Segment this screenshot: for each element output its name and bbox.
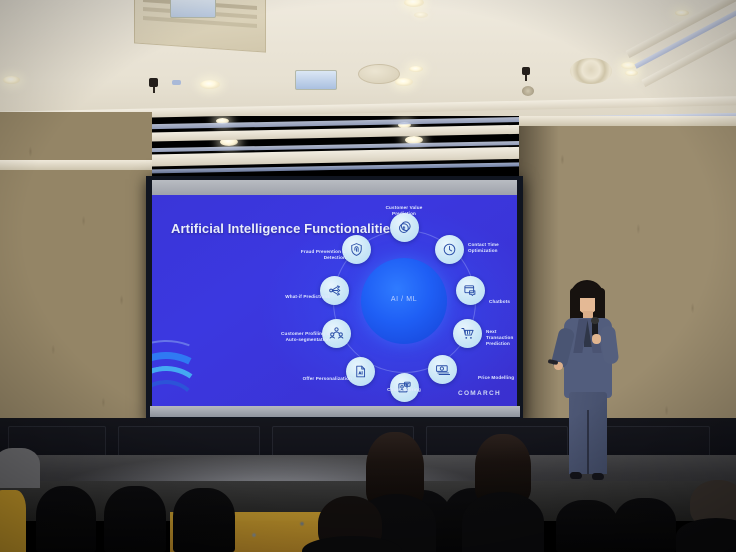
shield-fingerprint-icon bbox=[349, 242, 364, 257]
ceiling-speaker bbox=[358, 64, 400, 84]
node-label-3: Next Transaction Prediction bbox=[486, 329, 517, 347]
node-label-2: Chatbots bbox=[489, 299, 517, 305]
people-group-icon bbox=[329, 326, 344, 341]
smoke-detector bbox=[522, 86, 534, 96]
presenter bbox=[552, 280, 624, 492]
chair bbox=[104, 486, 166, 552]
ceiling-panel-light bbox=[295, 70, 337, 90]
coin-icon bbox=[397, 220, 412, 235]
wall-trim-left bbox=[0, 160, 152, 170]
node-label-4: Price Modelling bbox=[478, 375, 517, 381]
document-ai-icon bbox=[353, 364, 368, 379]
node-clock bbox=[435, 235, 464, 264]
presenter-hand-right bbox=[592, 334, 601, 344]
microphone-head bbox=[591, 317, 599, 324]
ceiling-rosette bbox=[570, 58, 612, 84]
node-label-8: What-if Predictions bbox=[246, 294, 330, 300]
ceiling-downlight bbox=[395, 78, 413, 86]
node-label-9: Fraud Prevention & Detection bbox=[246, 249, 346, 261]
presenter-shoe-left bbox=[570, 472, 582, 479]
screen-masking-top bbox=[152, 180, 517, 195]
node-label-7: Customer Profiling & Auto-segmentation bbox=[238, 331, 330, 343]
ceiling-camera bbox=[522, 67, 530, 75]
audience-shoulders bbox=[676, 518, 736, 552]
screen-masking-bottom bbox=[150, 406, 520, 417]
ceiling-sensor bbox=[172, 80, 181, 85]
node-banknotes bbox=[428, 355, 457, 384]
audience-member-suit bbox=[0, 448, 40, 488]
ceiling-downlight bbox=[625, 70, 638, 76]
node-label-5: Churn Scoring bbox=[366, 387, 442, 393]
banknotes-icon bbox=[435, 362, 450, 377]
audience-shoulders bbox=[462, 492, 544, 552]
projector-unit bbox=[170, 0, 216, 18]
chat-window-icon bbox=[463, 283, 478, 298]
presentation-slide: Artificial Intelligence Functionalities … bbox=[152, 195, 517, 406]
ceiling-downlight bbox=[675, 10, 689, 16]
ceiling-downlight bbox=[414, 12, 428, 18]
chair bbox=[614, 498, 676, 552]
node-label-6: Offer Personalization bbox=[262, 376, 352, 382]
ceiling-downlight bbox=[200, 80, 220, 89]
ceiling-camera bbox=[149, 78, 158, 87]
ceiling-downlight bbox=[3, 76, 20, 84]
presenter-leg-split bbox=[587, 410, 589, 474]
ai-functionality-wheel: AI / ML Customer Value Prediction Contac… bbox=[304, 201, 504, 401]
chair bbox=[556, 500, 618, 552]
audience-member-yellow bbox=[0, 490, 26, 552]
node-chatbot bbox=[456, 276, 485, 305]
chair bbox=[173, 488, 235, 552]
node-label-0: Customer Value Prediction bbox=[364, 205, 444, 217]
node-whatif bbox=[320, 276, 349, 305]
chair bbox=[36, 486, 96, 552]
comarch-logo: COMARCH bbox=[458, 390, 501, 397]
wall-trim-right bbox=[519, 116, 736, 126]
clock-icon bbox=[442, 242, 457, 257]
shopping-cart-icon bbox=[460, 326, 475, 341]
node-cart bbox=[453, 319, 482, 348]
node-label-1: Contact Time Optimization bbox=[468, 242, 516, 254]
conference-photo: Artificial Intelligence Functionalities … bbox=[0, 0, 736, 552]
ceiling-downlight bbox=[409, 66, 423, 72]
presenter-shoe-right bbox=[592, 473, 604, 480]
